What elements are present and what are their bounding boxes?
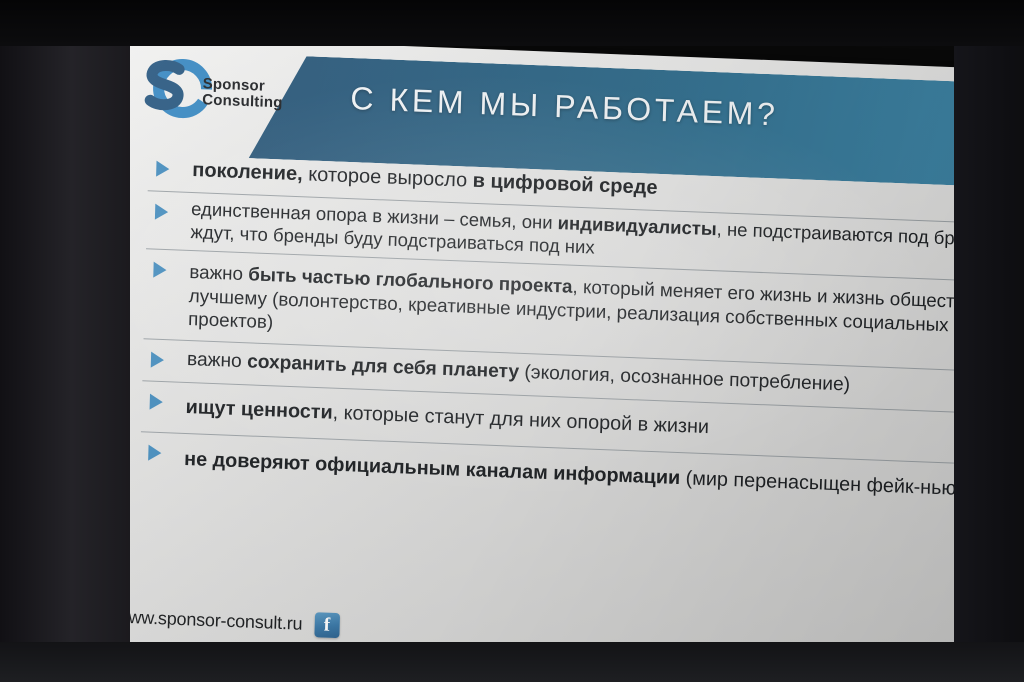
facebook-glyph: f: [314, 613, 340, 637]
room-right-wall: [954, 0, 1024, 682]
room-left-wall: [0, 0, 130, 682]
room-ceiling-shadow: [0, 0, 1024, 46]
website-url: www.sponsor-consult.ru: [115, 607, 302, 635]
bullet-list: поколение, которое выросло в цифровой ср…: [140, 148, 1024, 513]
projection-screen: С КЕМ МЫ РАБОТАЕМ? 3 Sponsor Consulting …: [0, 0, 1024, 682]
arrow-bullet-icon: [153, 262, 166, 279]
facebook-icon[interactable]: f: [314, 612, 340, 638]
arrow-bullet-icon: [151, 352, 164, 369]
arrow-bullet-icon: [148, 444, 161, 461]
slide-footer: www.sponsor-consult.ru f: [115, 605, 339, 639]
arrow-bullet-icon: [155, 204, 168, 221]
logo-line-2: Consulting: [202, 92, 283, 111]
sponsor-consulting-logo: Sponsor Consulting: [133, 52, 335, 138]
room-floor-shadow: [0, 642, 1024, 682]
arrow-bullet-icon: [150, 394, 163, 411]
presentation-slide: С КЕМ МЫ РАБОТАЕМ? 3 Sponsor Consulting …: [74, 34, 1024, 682]
logo-wordmark: Sponsor Consulting: [202, 76, 283, 110]
arrow-bullet-icon: [156, 161, 169, 178]
projection-scene: С КЕМ МЫ РАБОТАЕМ? 3 Sponsor Consulting …: [0, 0, 1024, 682]
